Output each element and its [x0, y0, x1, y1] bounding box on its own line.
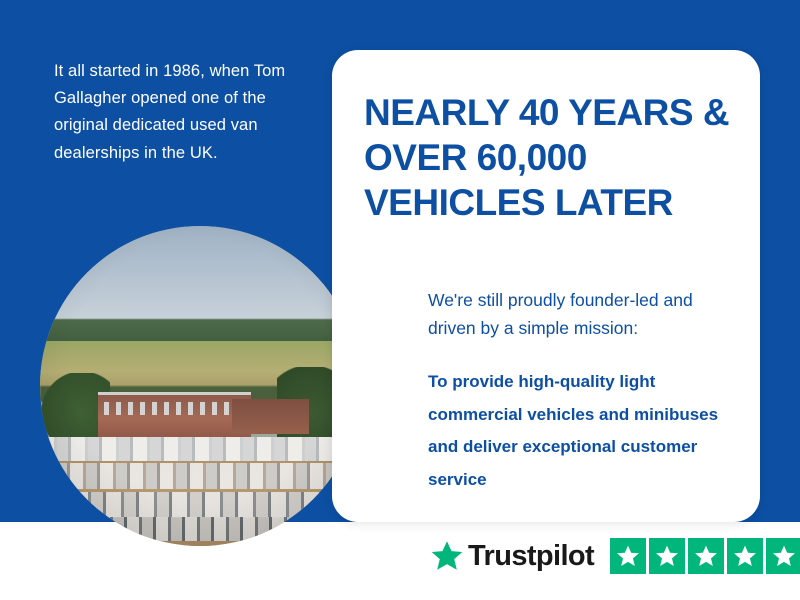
intro-paragraph: It all started in 1986, when Tom Gallagh…: [54, 58, 304, 167]
photo-vignette: [40, 226, 360, 546]
mission-statement: To provide high-quality light commercial…: [428, 366, 728, 497]
star-rating: [610, 538, 800, 574]
dealership-photo: [40, 226, 360, 546]
left-white-block: [0, 522, 28, 600]
headline: NEARLY 40 YEARS & OVER 60,000 VEHICLES L…: [364, 90, 736, 225]
promo-banner: It all started in 1986, when Tom Gallagh…: [0, 0, 800, 600]
rating-star: [649, 538, 685, 574]
photo-content: [40, 226, 360, 546]
trustpilot-wordmark: Trustpilot: [468, 540, 594, 573]
trustpilot-star-icon: [430, 539, 464, 573]
message-card: NEARLY 40 YEARS & OVER 60,000 VEHICLES L…: [332, 50, 760, 522]
subtext: We're still proudly founder-led and driv…: [428, 286, 728, 343]
trustpilot-logo: Trustpilot: [430, 539, 594, 573]
rating-star: [766, 538, 800, 574]
rating-star: [688, 538, 724, 574]
rating-star: [727, 538, 763, 574]
rating-star: [610, 538, 646, 574]
trustpilot-rating[interactable]: Trustpilot: [430, 538, 800, 574]
